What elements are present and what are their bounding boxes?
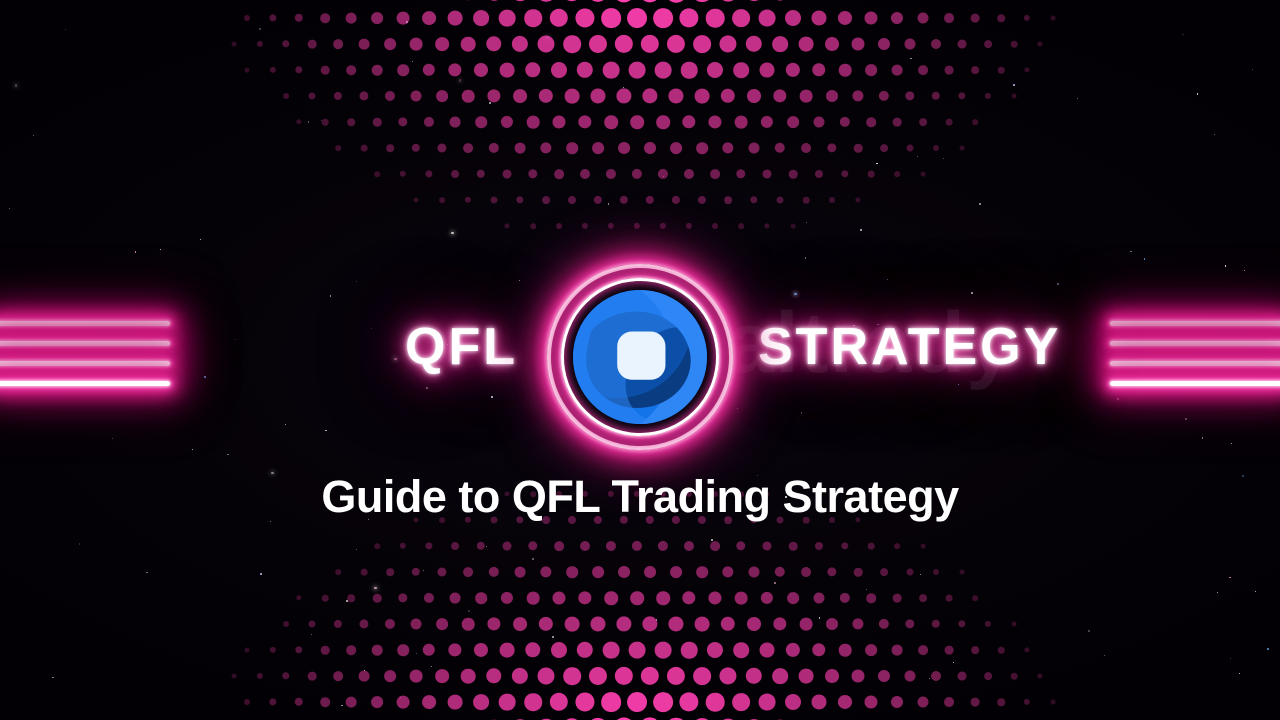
halftone-dot (971, 14, 980, 23)
halftone-dot (538, 668, 555, 685)
halftone-dot (761, 116, 773, 128)
halftone-dot (695, 89, 710, 104)
halftone-dot (334, 620, 342, 628)
halftone-dot (422, 695, 436, 709)
halftone-dot (855, 197, 860, 202)
halftone-dot (632, 541, 642, 551)
halftone-dot (524, 9, 542, 27)
halftone-dot (568, 196, 576, 204)
halftone-dot (397, 696, 410, 709)
halftone-dot (668, 616, 683, 631)
halftone-dot (245, 648, 250, 653)
halftone-dot (374, 543, 380, 549)
halftone-dot (359, 39, 370, 50)
halftone-dot (686, 223, 692, 229)
halftone-dot (425, 542, 432, 549)
halftone-dot (373, 594, 382, 603)
halftone-dot (486, 36, 501, 51)
halftone-dot (321, 66, 330, 75)
halftone-dot (627, 692, 647, 712)
halftone-dot (827, 567, 836, 576)
halftone-dot (642, 88, 657, 103)
halftone-dot (334, 92, 342, 100)
halftone-dot (575, 8, 594, 27)
halftone-dot (787, 116, 799, 128)
halftone-dot (499, 10, 516, 27)
halftone-dot (398, 117, 407, 126)
halftone-dot (893, 118, 902, 127)
halftone-dot (960, 146, 965, 151)
halftone-dot (918, 697, 929, 708)
star-dot (887, 279, 888, 280)
halftone-dot (504, 223, 509, 228)
halftone-dot (868, 543, 875, 550)
star-dot (519, 280, 520, 281)
halftone-dot (800, 90, 813, 103)
halftone-dot (374, 171, 380, 177)
halftone-dot (997, 14, 1005, 22)
halftone-dot (473, 694, 489, 710)
halftone-dot (825, 37, 839, 51)
halftone-dot (257, 673, 263, 679)
halftone-dot (880, 568, 888, 576)
halftone-dot (933, 145, 939, 151)
halftone-dot (577, 642, 593, 658)
altrady-swirl-logo-icon (547, 264, 733, 450)
halftone-dot (566, 566, 578, 578)
halftone-dot (486, 668, 501, 683)
halftone-dot (359, 91, 368, 100)
halftone-dot (372, 65, 383, 76)
halftone-dot (644, 566, 656, 578)
halftone-dot (839, 64, 852, 77)
halftone-dot (552, 115, 565, 128)
halftone-dot (838, 695, 852, 709)
halftone-dot (907, 145, 914, 152)
halftone-dot (451, 542, 459, 550)
halftone-dot (710, 541, 720, 551)
halftone-dot (629, 62, 646, 79)
halftone-dot (474, 63, 488, 77)
halftone-dot (463, 567, 473, 577)
halftone-dot (473, 10, 489, 26)
star-dot (737, 408, 738, 409)
halftone-dot (658, 169, 668, 179)
halftone-dot (921, 544, 926, 549)
halftone-dot (257, 41, 263, 47)
halftone-dot (813, 116, 824, 127)
halftone-dot (321, 646, 330, 655)
halftone-dot (866, 117, 876, 127)
halftone-dot (269, 14, 276, 21)
halftone-dot (931, 671, 941, 681)
halftone-dot (696, 566, 708, 578)
halftone-dot (333, 39, 343, 49)
halftone-dot (282, 40, 289, 47)
halftone-dot (616, 88, 631, 103)
halftone-dot (412, 568, 420, 576)
halftone-dot (512, 36, 528, 52)
halftone-dot (840, 593, 850, 603)
halftone-dot (639, 0, 660, 3)
halftone-dot (710, 169, 720, 179)
halftone-dot (474, 643, 488, 657)
halftone-dot (398, 593, 407, 602)
halftone-dot (812, 643, 825, 656)
halftone-dot (958, 92, 965, 99)
halftone-dot (854, 568, 863, 577)
halftone-dot (958, 620, 965, 627)
halftone-dot (462, 90, 475, 103)
halftone-dot (1011, 41, 1018, 48)
halftone-dot (590, 88, 605, 103)
halftone-dot (918, 65, 928, 75)
halftone-dot (503, 170, 512, 179)
halftone-dot (578, 115, 591, 128)
halftone-dot (735, 116, 748, 129)
halftone-dot (489, 567, 499, 577)
halftone-dot (813, 592, 824, 603)
halftone-dot (1011, 673, 1018, 680)
halftone-dot (865, 64, 877, 76)
halftone-dot (540, 142, 551, 153)
star-dot (971, 292, 973, 294)
halftone-dot (667, 35, 685, 53)
halftone-dot (800, 618, 813, 631)
star-dot (227, 454, 228, 455)
halftone-dot (932, 92, 940, 100)
star-dot (285, 424, 286, 425)
halftone-dots-top (0, 0, 1280, 252)
halftone-dot (815, 170, 823, 178)
halftone-dot (296, 119, 301, 124)
halftone-dot (245, 68, 250, 73)
halftone-dot (448, 11, 463, 26)
halftone-dot (745, 0, 763, 1)
halftone-dot (525, 642, 540, 657)
halftone-dot (397, 12, 410, 25)
halftone-dot (629, 642, 646, 659)
halftone-dot (733, 642, 749, 658)
halftone-dot (435, 669, 449, 683)
halftone-dot (907, 569, 914, 576)
halftone-dot (477, 542, 485, 550)
halftone-dot (373, 118, 382, 127)
halftone-dot (1012, 622, 1017, 627)
halftone-dot (1024, 67, 1029, 72)
halftone-dot (799, 669, 814, 684)
star-dot (356, 281, 357, 282)
halftone-dot (646, 196, 654, 204)
halftone-dot (608, 223, 614, 229)
halftone-dot (436, 618, 448, 630)
halftone-dot (893, 594, 902, 603)
halftone-dot (801, 567, 811, 577)
halftone-dot (437, 567, 446, 576)
halftone-dot (695, 617, 710, 632)
halftone-dot (410, 38, 423, 51)
halftone-dot (500, 643, 515, 658)
halftone-dot (892, 65, 903, 76)
halftone-dot (308, 672, 317, 681)
halftone-dot (1024, 15, 1030, 21)
halftone-dot (1024, 647, 1029, 652)
halftone-dot (563, 35, 581, 53)
halftone-dot (552, 591, 565, 604)
halftone-dot (946, 595, 953, 602)
halftone-dot (410, 670, 423, 683)
halftone-dot (892, 645, 903, 656)
halftone-dot (732, 693, 750, 711)
halftone-dot (616, 616, 631, 631)
halftone-dot (762, 169, 771, 178)
halftone-dot (891, 12, 903, 24)
halftone-dot (786, 63, 800, 77)
halftone-dot (905, 619, 914, 628)
halftone-dot (451, 170, 459, 178)
halftone-dot (487, 89, 500, 102)
halftone-dot (528, 541, 537, 550)
halftone-dot (551, 642, 567, 658)
halftone-dot (501, 592, 513, 604)
halftone-dot (894, 171, 900, 177)
halftone-dot (799, 37, 814, 52)
halftone-dot (425, 170, 432, 177)
halftone-dot (719, 35, 736, 52)
halftone-dot (985, 621, 991, 627)
halftone-dot (668, 88, 683, 103)
halftone-dot (707, 642, 723, 658)
halftone-dot (634, 223, 640, 229)
halftone-dot (588, 0, 608, 2)
halftone-dot (672, 196, 680, 204)
halftone-dot (852, 38, 865, 51)
halftone-dot (511, 0, 529, 1)
halftone-dot (733, 62, 749, 78)
halftone-dot (244, 699, 250, 705)
halftone-dot (320, 13, 330, 23)
halftone-dot (839, 644, 852, 657)
halftone-dot (785, 10, 801, 26)
halftone-dot (712, 223, 718, 229)
halftone-dot (693, 667, 711, 685)
halftone-dot (749, 567, 760, 578)
halftone-dot (879, 91, 889, 101)
halftone-dot (411, 619, 422, 630)
halftone-dot (682, 591, 695, 604)
halftone-dot (346, 645, 356, 655)
halftone-dot (642, 616, 657, 631)
halftone-dot (463, 143, 473, 153)
halftone-dot (423, 64, 435, 76)
halftone-dot (513, 617, 527, 631)
halftone-dot (971, 66, 979, 74)
halftone-dot (371, 12, 383, 24)
halftone-dot (538, 36, 555, 53)
halftone-dot (722, 142, 733, 153)
halftone-dot (577, 62, 593, 78)
halftone-dot (475, 116, 487, 128)
halftone-dot (346, 13, 357, 24)
halftone-dot (565, 617, 580, 632)
halftone-dot (361, 569, 368, 576)
halftone-dot (829, 197, 835, 203)
halftone-dot (815, 542, 823, 550)
halftone-dot (1037, 41, 1042, 46)
halftone-dot (785, 694, 801, 710)
halftone-dot (918, 645, 928, 655)
halftone-dot (811, 10, 826, 25)
halftone-dot (563, 667, 581, 685)
halftone-dot (958, 672, 967, 681)
halftone-dot (931, 39, 941, 49)
halftone-dot (550, 9, 568, 27)
halftone-dot (681, 62, 698, 79)
halftone-dot (945, 646, 954, 655)
halftone-dot (878, 670, 890, 682)
halftone-dot (865, 644, 877, 656)
halftone-dot (827, 143, 836, 152)
star-dot (112, 438, 113, 439)
halftone-dot (1051, 16, 1056, 21)
halftone-dot (477, 170, 485, 178)
halftone-dot (972, 595, 978, 601)
halftone-dot (575, 692, 594, 711)
halftone-dot (589, 667, 607, 685)
halftone-dot (772, 36, 788, 52)
halftone-dot (489, 143, 499, 153)
halftone-dot (424, 593, 434, 603)
halftone-dot (604, 115, 618, 129)
halftone-dot (789, 542, 798, 551)
halftone-dot (528, 169, 537, 178)
logo-disc (573, 290, 707, 424)
halftone-dot (462, 618, 475, 631)
halftone-dot (972, 119, 978, 125)
halftone-dot (562, 0, 581, 2)
halftone-dot (692, 0, 712, 2)
star-dot (1185, 418, 1187, 420)
halftone-dot (592, 566, 604, 578)
halftone-dot (841, 542, 848, 549)
halftone-dot (1051, 700, 1056, 705)
halftone-dot (682, 115, 695, 128)
halftone-dot (693, 35, 711, 53)
halftone-dot (335, 569, 341, 575)
halftone-dot (812, 63, 825, 76)
halftone-dot (499, 694, 516, 711)
halftone-dot (322, 595, 329, 602)
halftone-dot (580, 169, 590, 179)
halftone-dot (295, 698, 303, 706)
halftone-dot (512, 668, 528, 684)
halftone-dot (283, 621, 289, 627)
halftone-dot (603, 642, 620, 659)
halftone-dot (423, 644, 435, 656)
halftone-dot (904, 38, 915, 49)
halftone-dot (684, 541, 694, 551)
halftone-dot (708, 591, 721, 604)
halftone-dot (984, 672, 992, 680)
halftone-dot (762, 541, 771, 550)
halftone-dot (854, 144, 863, 153)
halftone-dot (556, 223, 562, 229)
halftone-dot (706, 9, 725, 28)
halftone-dot (244, 15, 250, 21)
halftone-dot (397, 64, 409, 76)
halftone-dot (894, 543, 900, 549)
halftone-dot (448, 63, 461, 76)
halftone-dot (527, 592, 540, 605)
halftone-dot (747, 617, 761, 631)
halftone-dot (918, 13, 929, 24)
halftone-dot (905, 91, 914, 100)
halftone-dot (679, 8, 698, 27)
halftone-dot (282, 672, 289, 679)
halftone-dot (746, 668, 762, 684)
halftone-dot (513, 89, 527, 103)
halftone-dot (761, 592, 773, 604)
wordmark-left-text: QFL (405, 318, 518, 376)
halftone-dot (580, 541, 590, 551)
halftone-dot (461, 669, 476, 684)
halftone-dot (825, 669, 839, 683)
halftone-dot (945, 66, 954, 75)
halftone-dot (706, 693, 725, 712)
star-dot (325, 430, 327, 432)
halftone-dot (372, 645, 383, 656)
halftone-dot (618, 142, 630, 154)
halftone-dot (539, 617, 553, 631)
star-dot (1244, 270, 1245, 271)
halftone-dot (500, 63, 515, 78)
halftone-dot (437, 143, 446, 152)
halftone-dot (946, 119, 953, 126)
halftone-dot (698, 196, 706, 204)
halftone-dot (295, 646, 302, 653)
halftone-dot (590, 616, 605, 631)
halftone-dot (335, 145, 341, 151)
star-dot (801, 412, 802, 413)
halftone-dot (487, 617, 500, 630)
halftone-dot (627, 8, 647, 28)
halftone-dot (772, 668, 788, 684)
halftone-dot (413, 197, 418, 202)
halftone-dot (386, 568, 394, 576)
halftone-dot (618, 566, 630, 578)
halftone-dot (732, 9, 750, 27)
halftone-dot (656, 591, 670, 605)
halftone-dot (760, 643, 775, 658)
halftone-dot (424, 117, 434, 127)
halftone-dot (653, 8, 673, 28)
halftone-dot (359, 671, 370, 682)
halftone-dot (601, 8, 621, 28)
halftone-dot (270, 647, 276, 653)
halftone-dot (841, 170, 848, 177)
halftone-dot (461, 37, 476, 52)
halftone-dot (998, 647, 1005, 654)
halftone-dot (269, 698, 276, 705)
halftone-dot (371, 696, 383, 708)
halftone-dot (550, 693, 568, 711)
halftone-dot (322, 119, 329, 126)
halftone-dot (295, 14, 303, 22)
halftone-dot (554, 541, 564, 551)
halftone-dot (656, 115, 670, 129)
halftone-dot (384, 670, 396, 682)
halftone-dot (719, 667, 736, 684)
